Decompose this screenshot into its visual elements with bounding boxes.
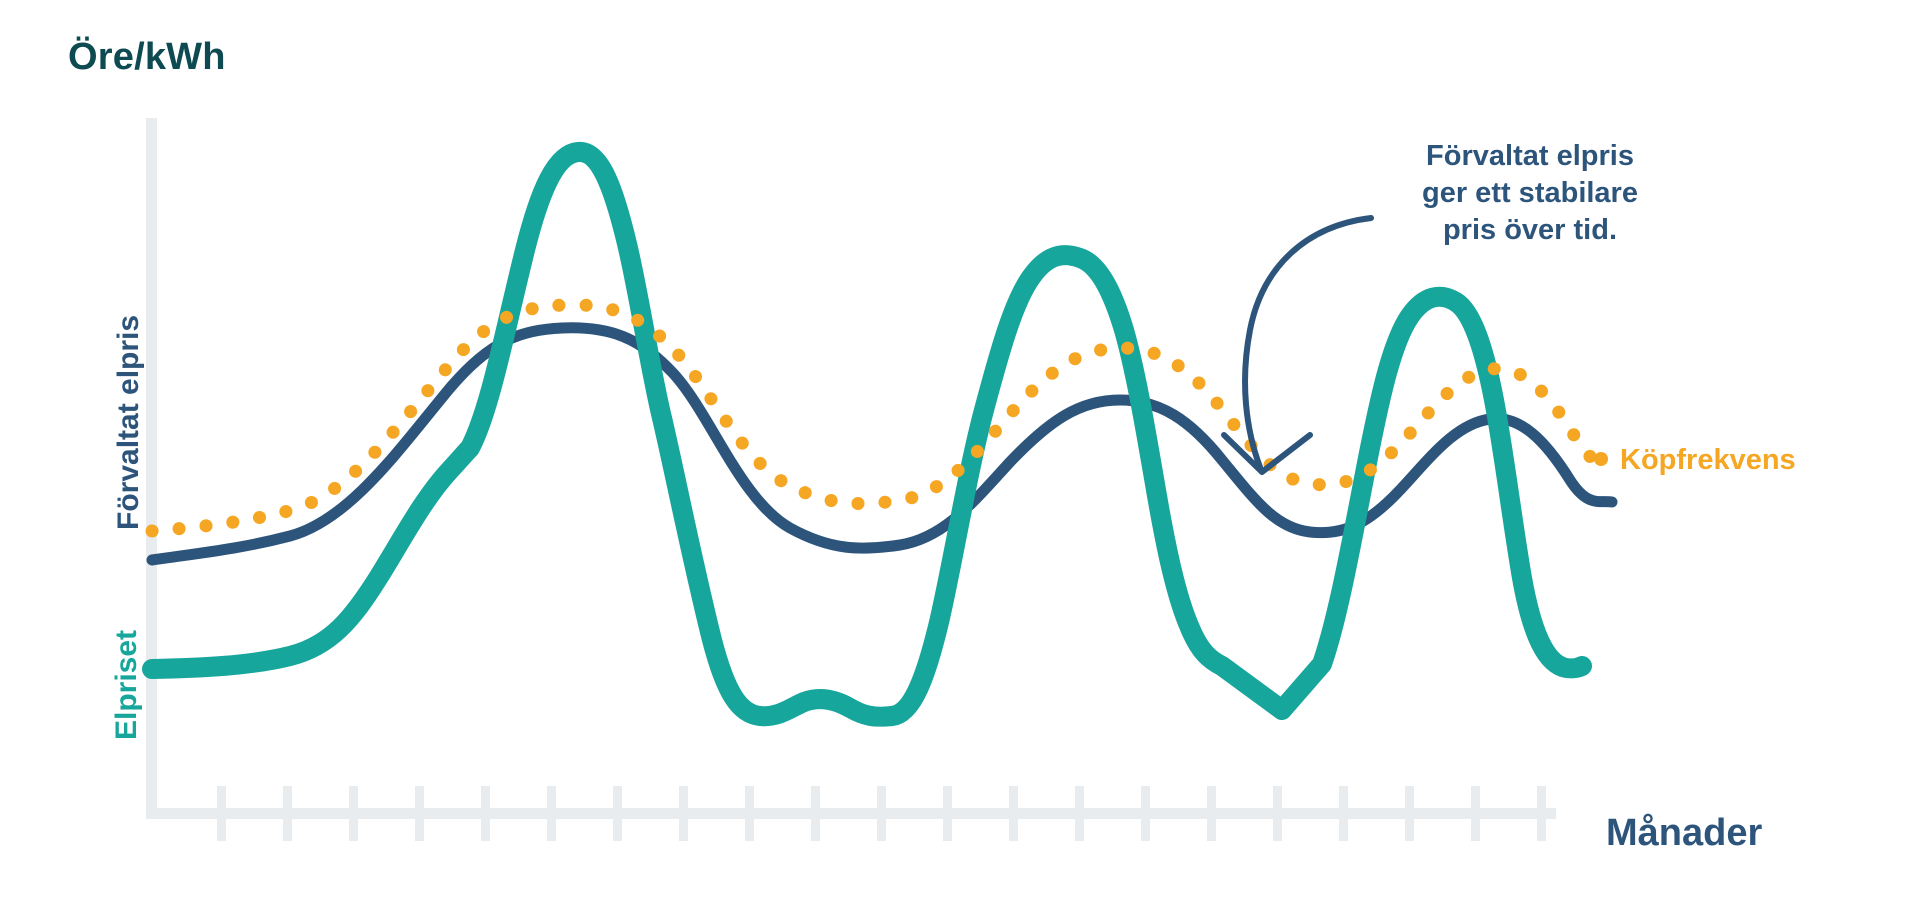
annotation-callout: Förvaltat elpris ger ett stabilare pris … xyxy=(1380,138,1680,249)
series-line-elpriset xyxy=(152,152,1582,717)
legend-dot-kopfrekvens xyxy=(1594,452,1608,466)
annotation-line-2: ger ett stabilare xyxy=(1380,175,1680,212)
chart-canvas: Öre/kWh Förvaltat elpris Elpriset Månade… xyxy=(0,0,1920,914)
y-axis-line xyxy=(146,118,157,818)
annotation-line-3: pris över tid. xyxy=(1380,212,1680,249)
annotation-arrowhead-icon xyxy=(1224,435,1310,472)
y-axis-label-forvaltat-elpris: Förvaltat elpris xyxy=(112,315,146,530)
x-axis-label-manader: Månader xyxy=(1606,812,1762,855)
legend-label-kopfrekvens: Köpfrekvens xyxy=(1620,444,1796,477)
annotation-line-1: Förvaltat elpris xyxy=(1380,138,1680,175)
y-axis-label-elpriset: Elpriset xyxy=(110,630,144,740)
annotation-arrow-icon xyxy=(1245,218,1371,467)
x-axis-ticks xyxy=(217,786,1546,841)
chart-title: Öre/kWh xyxy=(68,36,226,79)
